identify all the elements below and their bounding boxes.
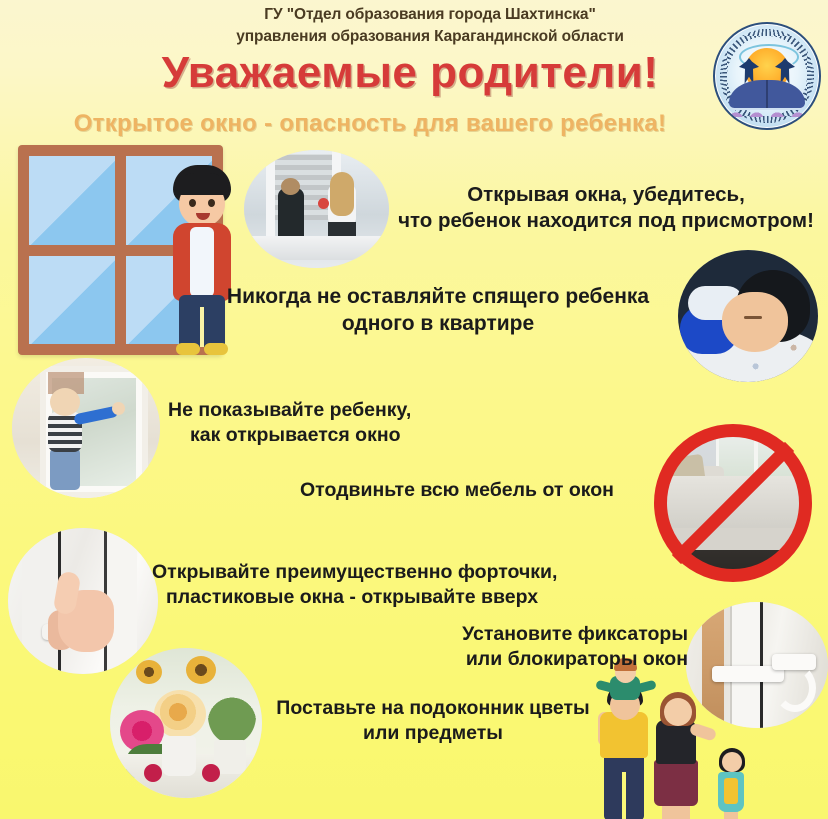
- page-subtitle: Открытое окно - опасность для вашего реб…: [20, 110, 720, 138]
- prohibition-sign-icon: [654, 424, 812, 582]
- callout-install-locks-line-2: или блокираторы окон: [466, 648, 688, 670]
- children-at-window-photo: [244, 150, 389, 268]
- closed-eye: [744, 316, 762, 319]
- window-pane: [29, 256, 115, 345]
- callout-supervision: Открывая окна, убедитесь, что ребенок на…: [388, 182, 824, 234]
- windowsill: [244, 236, 389, 260]
- callout-sleeping-child-line-2: одного в квартире: [342, 312, 534, 335]
- white-vase: [162, 736, 196, 776]
- mother-skirt: [654, 760, 698, 806]
- child-face: [722, 292, 788, 352]
- organization-line-2: управления образования Карагандинской об…: [150, 26, 710, 48]
- boy-eye-left: [189, 199, 196, 207]
- callout-sleeping-child-line-1: Никогда не оставляйте спящего ребенка: [227, 285, 649, 308]
- boy-fringe: [175, 173, 229, 195]
- child-standing-hair: [330, 172, 354, 216]
- girl-head: [722, 752, 742, 772]
- organization-line-1: ГУ "Отдел образования города Шахтинска": [150, 4, 710, 26]
- callout-install-locks-line-1: Установите фиксаторы: [462, 623, 688, 645]
- callout-flowers-line-1: Поставьте на подоконник цветы: [276, 697, 589, 719]
- boy-shoe-right: [204, 343, 228, 355]
- callout-sleeping-child: Никогда не оставляйте спящего ребенка од…: [212, 284, 664, 338]
- boy-shirt: [190, 227, 214, 297]
- callout-flowers-on-sill: Поставьте на подоконник цветы или предме…: [240, 696, 626, 746]
- safety-poster: ГУ "Отдел образования города Шахтинска" …: [0, 0, 828, 819]
- child-kneeling: [278, 188, 304, 242]
- red-decoration-one: [144, 764, 162, 782]
- callout-move-furniture-line-1: Отодвиньте всю мебель от окон: [300, 479, 614, 501]
- toddler-jeans: [50, 448, 80, 490]
- page-title: Уважаемые родители!: [100, 48, 720, 98]
- callout-supervision-line-2: что ребенок находится под присмотром!: [398, 209, 814, 232]
- mother-head: [664, 698, 692, 726]
- callout-vent-window-line-1: Открывайте преимущественно форточки,: [152, 561, 557, 583]
- emblem-ornament-wave: [724, 105, 810, 117]
- callout-dont-show-line-2: как открывается окно: [168, 423, 498, 448]
- window-pane: [29, 156, 115, 245]
- callout-install-locks: Установите фиксаторы или блокираторы око…: [400, 622, 688, 672]
- callout-vent-window: Открывайте преимущественно форточки, пла…: [152, 560, 632, 610]
- callout-move-furniture: Отодвиньте всю мебель от окон: [300, 478, 660, 503]
- toddler-head: [50, 388, 80, 416]
- sleeping-child-photo: [678, 250, 818, 382]
- boy-shoe-left: [176, 343, 200, 355]
- sunflower-one: [136, 660, 162, 684]
- callout-flowers-line-2: или предметы: [363, 722, 503, 744]
- lock-hook: [774, 664, 816, 712]
- child-kneeling-head: [281, 178, 300, 195]
- father-leg-gap: [622, 772, 626, 819]
- callout-dont-show-line-1: Не показывайте ребенку,: [168, 399, 411, 421]
- red-toy: [318, 198, 329, 209]
- callout-vent-window-line-2: пластиковые окна - открывайте вверх: [152, 585, 632, 610]
- boy-eye-right: [208, 199, 215, 207]
- toddler-reaching-handle-photo: [12, 358, 160, 498]
- education-department-emblem-icon: [713, 22, 821, 130]
- sunflower-two: [186, 656, 216, 684]
- girl-apron: [724, 778, 738, 804]
- callout-dont-show: Не показывайте ребенку, как открывается …: [168, 398, 498, 448]
- callout-supervision-line-1: Открывая окна, убедитесь,: [467, 183, 745, 206]
- boy-leg-gap: [200, 307, 204, 347]
- toddler-hand: [112, 402, 125, 415]
- red-decoration-two: [202, 764, 220, 782]
- window-frame-left: [266, 150, 275, 242]
